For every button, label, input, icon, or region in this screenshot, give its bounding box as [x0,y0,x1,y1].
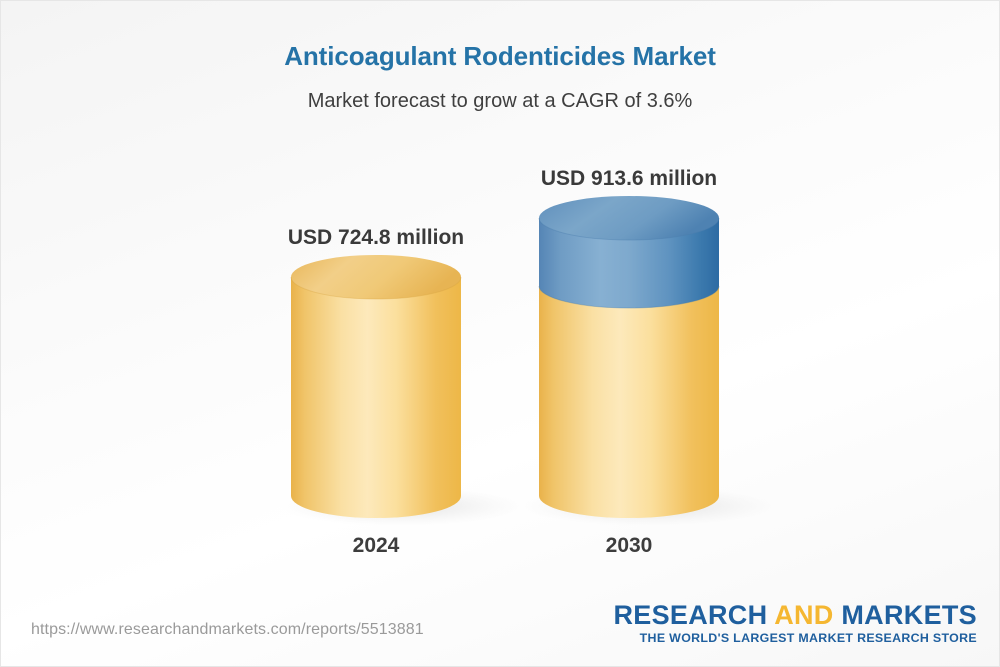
source-url[interactable]: https://www.researchandmarkets.com/repor… [31,621,424,639]
bar-2030[interactable] [539,196,719,518]
category-label-2030: 2030 [569,534,689,558]
logo-word-and: AND [774,600,833,630]
research-and-markets-logo[interactable]: RESEARCH AND MARKETS THE WORLD'S LARGEST… [613,601,977,645]
category-label-2024: 2024 [316,534,436,558]
value-label-2024: USD 724.8 million [266,226,486,250]
logo-wordmark: RESEARCH AND MARKETS [613,601,977,629]
chart-canvas: Anticoagulant Rodenticides Market Market… [0,0,1000,667]
logo-word-markets: MARKETS [834,600,977,630]
logo-word-research: RESEARCH [613,600,774,630]
value-label-2030: USD 913.6 million [519,167,739,191]
bar-2024-body [291,277,461,518]
cylinder-chart [1,1,1000,667]
bar-2024[interactable] [291,255,461,518]
bar-2030-base-body [539,286,719,518]
logo-tagline: THE WORLD'S LARGEST MARKET RESEARCH STOR… [613,631,977,645]
